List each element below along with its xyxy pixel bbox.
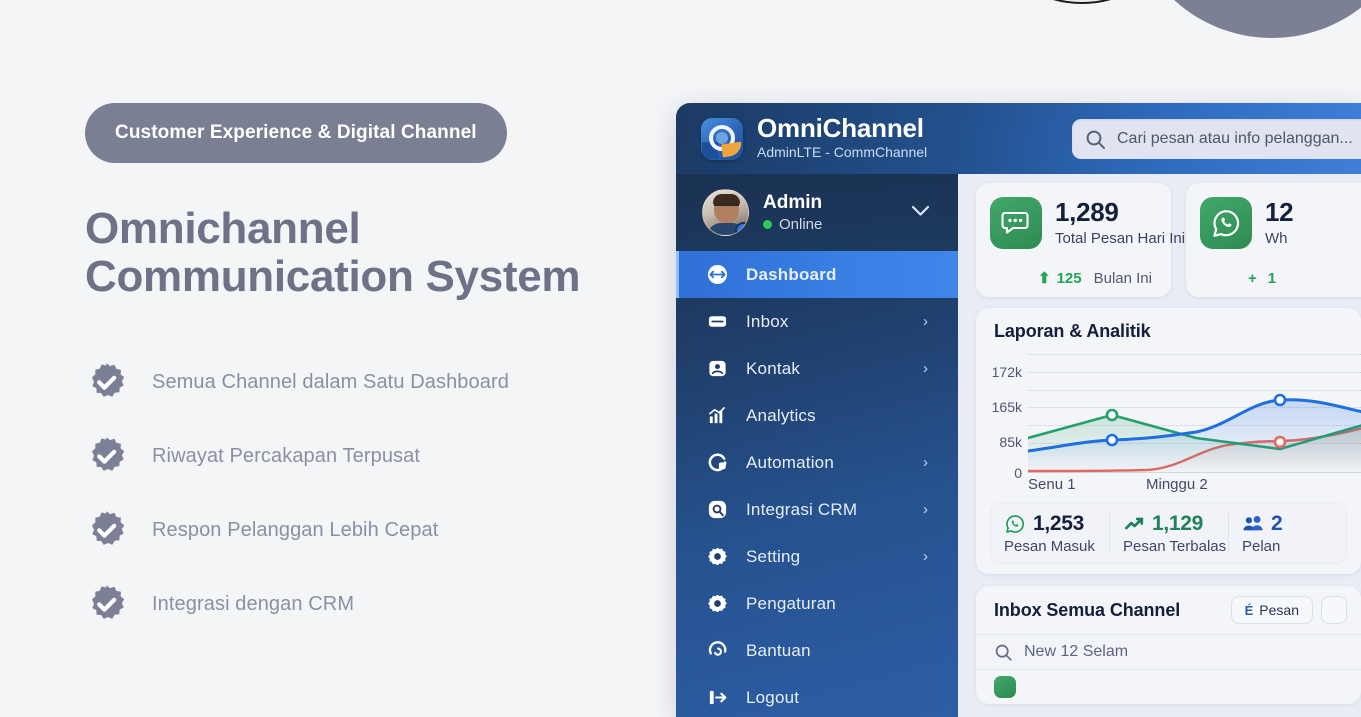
search-input[interactable]: Cari pesan atau info pelanggan... <box>1072 119 1361 159</box>
category-pill: Customer Experience & Digital Channel <box>85 103 507 163</box>
sidebar-item-label: Pengaturan <box>746 594 836 614</box>
sidebar-menu: Dashboard Inbox › Kontak › <box>676 251 958 717</box>
chevron-right-icon: › <box>923 313 928 330</box>
chevron-right-icon: › <box>923 360 928 377</box>
y-tick-label: 0 <box>1014 465 1022 481</box>
chevron-right-icon: › <box>923 501 928 518</box>
feature-item: Semua Channel dalam Satu Dashboard <box>85 345 509 419</box>
sidebar-item-setting[interactable]: Setting › <box>676 533 958 580</box>
chevron-right-icon: › <box>923 548 928 565</box>
check-badge-icon <box>85 583 128 626</box>
plus-icon: + <box>1248 270 1257 287</box>
search-icon <box>1085 129 1106 150</box>
sidebar-item-label: Logout <box>746 688 799 708</box>
brand-subtitle: AdminLTE - CommChannel <box>757 144 927 162</box>
mini-stat-caption: Pesan Masuk <box>1004 538 1109 555</box>
mini-stat-pesan-masuk[interactable]: 1,253 Pesan Masuk <box>990 502 1109 564</box>
dashboard-icon <box>704 264 730 285</box>
headset-icon <box>704 640 730 661</box>
search-placeholder-text: Cari pesan atau info pelanggan... <box>1117 130 1353 148</box>
gear-icon <box>704 593 730 614</box>
x-tick-label: Senu 1 <box>1028 476 1076 493</box>
inbox-secondary-button[interactable] <box>1321 596 1347 624</box>
brand-title: OmniChannel <box>757 115 927 143</box>
deco-circle-ring <box>975 0 1189 4</box>
stat-delta-value: 1 <box>1268 270 1276 287</box>
stat-card-whatsapp[interactable]: 12 Wh + 1 <box>1186 183 1361 297</box>
feature-label: Semua Channel dalam Satu Dashboard <box>152 371 509 394</box>
inbox-list-item[interactable] <box>976 670 1361 704</box>
chart-series-svg <box>1028 352 1361 474</box>
check-badge-icon <box>85 509 128 552</box>
analytics-chart: 172k 165k 85k 0 <box>976 352 1361 492</box>
mini-stat-pesan-terbalas[interactable]: 1,129 Pesan Terbalas <box>1109 502 1228 564</box>
check-badge-icon <box>85 361 128 404</box>
stat-value: 12 <box>1265 197 1293 227</box>
inbox-icon <box>704 311 730 332</box>
app-topbar: OmniChannel AdminLTE - CommChannel Cari … <box>676 103 1361 174</box>
search-icon <box>994 643 1013 662</box>
sidebar-item-label: Kontak <box>746 359 800 379</box>
stat-caption: Total Pesan Hari Ini <box>1055 230 1185 247</box>
mini-stat-caption: Pelan <box>1242 538 1347 555</box>
whatsapp-icon <box>1200 197 1252 249</box>
page-title: Omnichannel Communication System <box>85 205 645 302</box>
sidebar-item-integrasi-crm[interactable]: Integrasi CRM › <box>676 486 958 533</box>
channel-badge-icon <box>994 676 1016 698</box>
inbox-button-label: Pesan <box>1259 602 1299 618</box>
category-pill-label: Customer Experience & Digital Channel <box>115 122 477 144</box>
feature-item: Integrasi dengan CRM <box>85 567 509 641</box>
avatar <box>702 189 749 236</box>
trend-up-icon: ⬆ <box>1038 269 1051 287</box>
stat-value: 1,289 <box>1055 197 1119 227</box>
chat-bubble-icon <box>990 197 1042 249</box>
dashboard-mockup: OmniChannel AdminLTE - CommChannel Cari … <box>676 103 1361 717</box>
logout-icon <box>704 687 730 708</box>
chevron-down-icon[interactable] <box>911 204 930 222</box>
feature-label: Riwayat Percakapan Terpusat <box>152 445 420 468</box>
report-title: Laporan & Analitik <box>976 321 1361 342</box>
stat-card-row: 1,289 Total Pesan Hari Ini ⬆ 125 Bulan I… <box>958 174 1361 297</box>
feature-label: Respon Pelanggan Lebih Cepat <box>152 519 438 542</box>
headline-line-1: Omnichannel <box>85 205 645 253</box>
trend-up-icon <box>1123 514 1145 534</box>
whatsapp-icon <box>1004 514 1026 534</box>
x-tick-label: Minggu 2 <box>1146 476 1208 493</box>
mini-stat-value: 1,253 <box>1033 512 1084 536</box>
check-badge-icon <box>85 435 128 478</box>
inbox-search-text: New 12 Selam <box>1024 643 1128 661</box>
chevron-right-icon: › <box>923 454 928 471</box>
sidebar-item-label: Integrasi CRM <box>746 500 857 520</box>
sidebar-item-label: Automation <box>746 453 834 473</box>
automation-icon <box>704 452 730 473</box>
stat-card-total-pesan[interactable]: 1,289 Total Pesan Hari Ini ⬆ 125 Bulan I… <box>976 183 1171 297</box>
sidebar-item-logout[interactable]: Logout <box>676 674 958 717</box>
contacts-icon <box>704 358 730 379</box>
sidebar-user-profile[interactable]: Admin Online <box>676 174 958 251</box>
chart-marker <box>1107 410 1117 420</box>
stat-delta: ⬆ 125 Bulan Ini <box>1038 269 1152 287</box>
inbox-header: Inbox Semua Channel É Pesan <box>976 586 1361 634</box>
inbox-panel: Inbox Semua Channel É Pesan New 12 Selam <box>976 586 1361 704</box>
chart-x-axis: Senu 1 Minggu 2 <box>1028 476 1361 496</box>
inbox-title: Inbox Semua Channel <box>994 600 1180 621</box>
report-panel: Laporan & Analitik 172k 165k 85k 0 <box>976 308 1361 574</box>
mini-stat-value: 1,129 <box>1152 512 1203 536</box>
y-tick-label: 172k <box>992 364 1022 380</box>
compose-icon: É <box>1245 603 1254 618</box>
sidebar-item-label: Inbox <box>746 312 789 332</box>
report-mini-stats: 1,253 Pesan Masuk 1,129 Pesan Terbalas <box>990 502 1347 564</box>
sidebar-item-pengaturan[interactable]: Pengaturan <box>676 580 958 627</box>
crm-icon <box>704 499 730 520</box>
mini-stat-caption: Pesan Terbalas <box>1123 538 1228 555</box>
feature-item: Riwayat Percakapan Terpusat <box>85 419 509 493</box>
chart-marker <box>1107 435 1117 445</box>
headline-line-2: Communication System <box>85 253 645 301</box>
sidebar-item-bantuan[interactable]: Bantuan <box>676 627 958 674</box>
feature-item: Respon Pelanggan Lebih Cepat <box>85 493 509 567</box>
chart-y-axis: 172k 165k 85k 0 <box>976 352 1028 472</box>
sidebar-item-dashboard[interactable]: Dashboard <box>676 251 958 298</box>
mini-stat-pelanggan[interactable]: 2 Pelan <box>1228 502 1347 564</box>
users-icon <box>1242 514 1264 534</box>
omnichannel-logo-icon <box>701 118 743 160</box>
chart-marker <box>1275 437 1285 447</box>
stat-caption: Wh <box>1265 230 1293 247</box>
y-tick-label: 85k <box>999 434 1022 450</box>
sidebar-item-automation[interactable]: Automation › <box>676 439 958 486</box>
chart-marker <box>1275 395 1285 405</box>
sidebar-item-label: Analytics <box>746 406 816 426</box>
marketing-pane: Customer Experience & Digital Channel Om… <box>0 0 680 717</box>
sidebar-user-name: Admin <box>763 192 822 215</box>
sidebar-item-label: Dashboard <box>746 265 837 285</box>
feature-list: Semua Channel dalam Satu Dashboard Riway… <box>85 345 509 641</box>
stat-delta: + 1 <box>1248 270 1282 287</box>
y-tick-label: 165k <box>992 399 1022 415</box>
inbox-action-buttons: É Pesan <box>1223 596 1347 624</box>
sidebar: Admin Online Dashboard <box>676 174 958 717</box>
brand-block: OmniChannel AdminLTE - CommChannel <box>757 115 927 161</box>
sidebar-item-analytics[interactable]: Analytics <box>676 392 958 439</box>
avatar-badge-icon <box>735 222 749 236</box>
gear-icon <box>704 546 730 567</box>
feature-label: Integrasi dengan CRM <box>152 593 354 616</box>
bar-chart-icon <box>704 405 730 426</box>
sidebar-user-status: Online <box>779 216 822 233</box>
status-indicator-dot <box>763 220 772 229</box>
inbox-pesan-button[interactable]: É Pesan <box>1231 596 1313 624</box>
mini-stat-value: 2 <box>1271 512 1282 536</box>
inbox-search-input[interactable]: New 12 Selam <box>976 634 1361 670</box>
sidebar-item-kontak[interactable]: Kontak › <box>676 345 958 392</box>
deco-circle-slate <box>1127 0 1361 38</box>
stat-delta-value: 125 <box>1057 270 1082 287</box>
main-content: 1,289 Total Pesan Hari Ini ⬆ 125 Bulan I… <box>958 174 1361 717</box>
sidebar-item-label: Setting <box>746 547 800 567</box>
sidebar-item-inbox[interactable]: Inbox › <box>676 298 958 345</box>
sidebar-item-label: Bantuan <box>746 641 811 661</box>
chart-plot-area <box>1028 352 1361 474</box>
stat-delta-label: Bulan Ini <box>1094 270 1152 287</box>
